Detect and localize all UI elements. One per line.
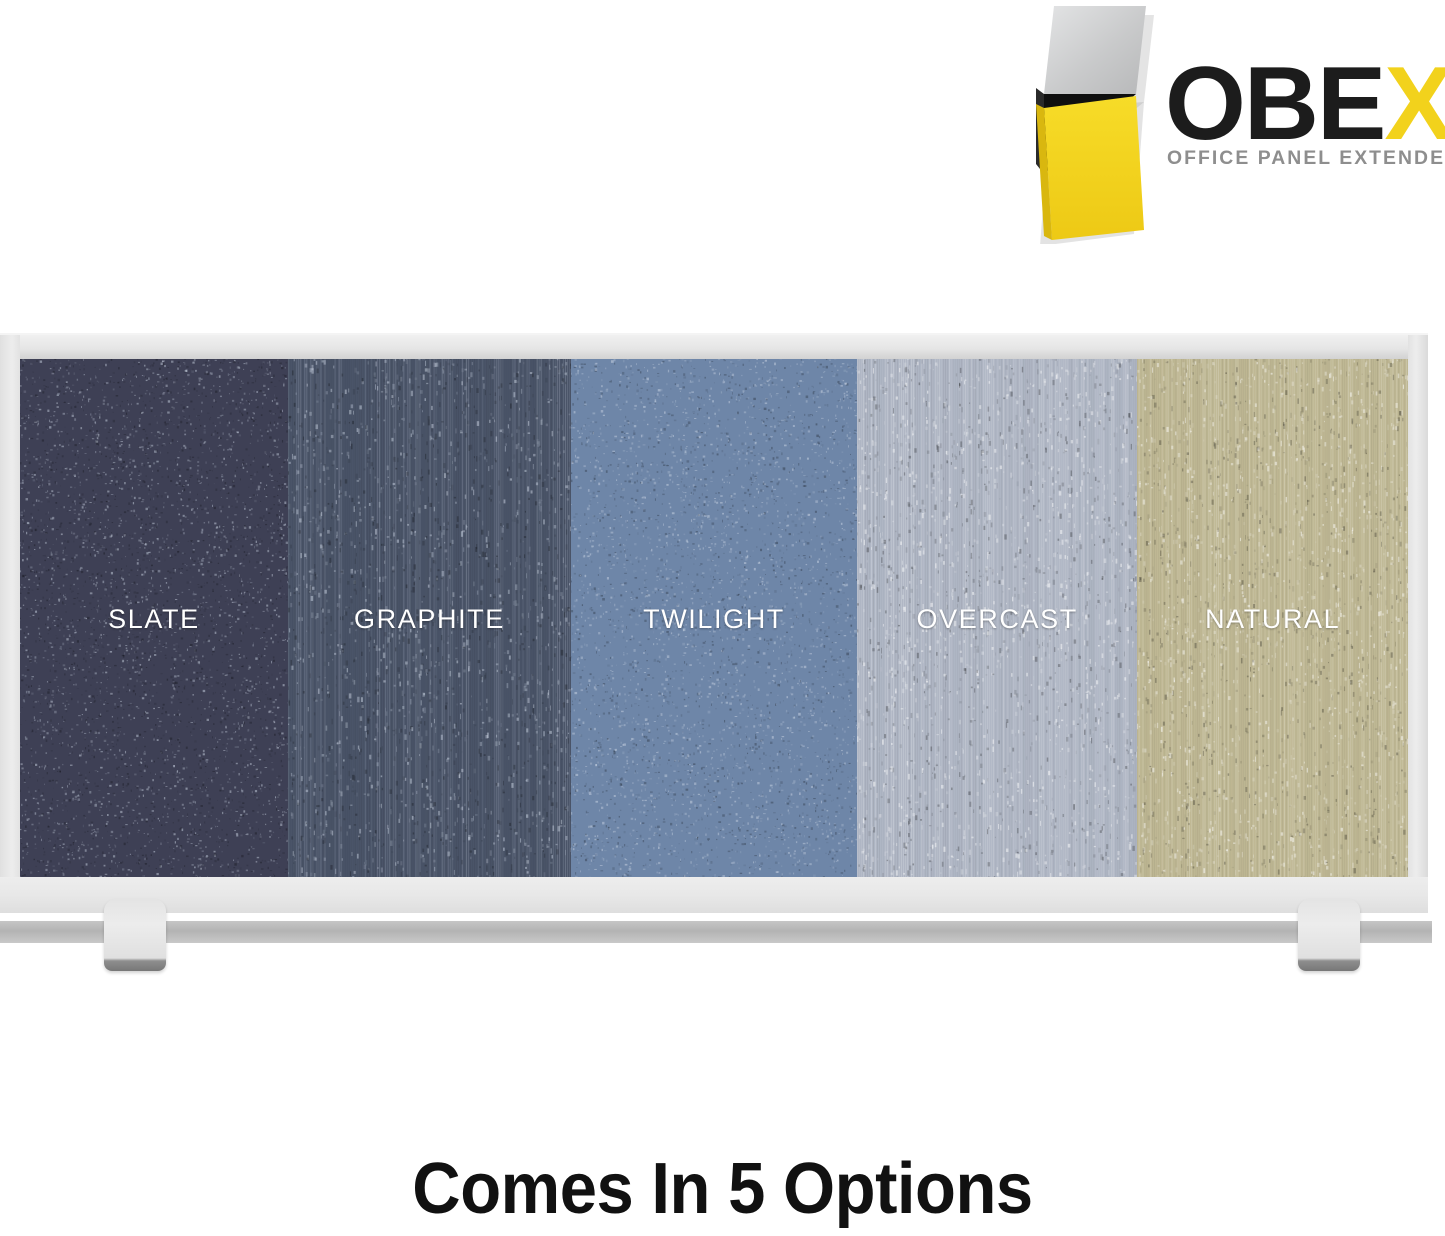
obex-wordmark: OBEX OFFICE PANEL EXTENDERS (1165, 52, 1433, 197)
panel-extender-product: SLATEGRAPHITETWILIGHTOVERCASTNATURAL (0, 333, 1432, 993)
frame-bottom-rail (0, 877, 1428, 913)
panel-frame: SLATEGRAPHITETWILIGHTOVERCASTNATURAL (0, 333, 1428, 913)
fabric-swatch-label: NATURAL (1205, 604, 1340, 635)
brand-tagline: OFFICE PANEL EXTENDERS (1167, 148, 1445, 170)
panel-base-shadow (0, 921, 1432, 943)
caption-text: Comes In 5 Options (51, 1148, 1395, 1230)
wordmark-x: X (1384, 46, 1445, 162)
brand-logo: OBEX OFFICE PANEL EXTENDERS (1032, 4, 1432, 244)
wordmark-obe: OBE (1165, 46, 1384, 162)
obex-chevron-mark-icon (1032, 4, 1162, 244)
fabric-swatch-graphite[interactable]: GRAPHITE (288, 359, 571, 877)
mounting-clip-right (1298, 899, 1360, 971)
fabric-swatch-label: GRAPHITE (354, 604, 505, 635)
wordmark-text: OBEX (1165, 52, 1433, 156)
mounting-clip-left (104, 899, 166, 971)
fabric-swatch-natural[interactable]: NATURAL (1137, 359, 1408, 877)
fabric-swatch-label: OVERCAST (916, 604, 1077, 635)
fabric-swatch-slate[interactable]: SLATE (20, 359, 288, 877)
frame-right-rail (1408, 335, 1428, 913)
frame-top-rail (0, 335, 1428, 359)
fabric-swatch-twilight[interactable]: TWILIGHT (571, 359, 857, 877)
fabric-swatch-label: SLATE (108, 604, 200, 635)
frame-left-rail (0, 335, 20, 913)
fabric-swatch-label: TWILIGHT (643, 604, 785, 635)
fabric-swatch-strip: SLATEGRAPHITETWILIGHTOVERCASTNATURAL (20, 359, 1408, 877)
fabric-swatch-overcast[interactable]: OVERCAST (857, 359, 1137, 877)
